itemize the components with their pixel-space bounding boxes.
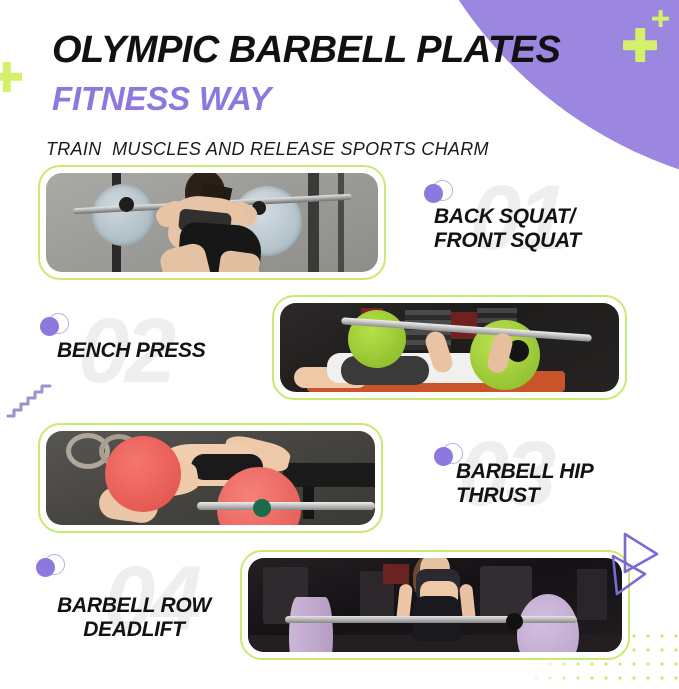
item-title-01: BACK SQUAT/ FRONT SQUAT — [434, 205, 581, 252]
item-title-03: BARBELL HIP THRUST — [456, 460, 594, 507]
plus-icon-small — [652, 10, 669, 27]
page-tagline: TRAIN MUSCLES AND RELEASE SPORTS CHARM — [46, 139, 489, 160]
photo-deadlift — [248, 558, 622, 652]
item-title-04: BARBELL ROW DEADLIFT — [28, 594, 240, 641]
photo-hip-thrust — [46, 431, 375, 525]
photo-back-squat — [46, 173, 378, 272]
bullet-dot-02 — [40, 317, 59, 336]
plus-icon-large — [623, 28, 657, 62]
bullet-dot-03 — [434, 447, 453, 466]
photo-card-bench-press — [272, 295, 627, 400]
photo-card-back-squat — [38, 165, 386, 280]
poster-root: OLYMPIC BARBELL PLATES FITNESS WAY TRAIN… — [0, 0, 679, 689]
item-title-02: BENCH PRESS — [57, 339, 205, 363]
photo-bench-press — [280, 303, 619, 392]
photo-card-deadlift — [240, 550, 630, 660]
squiggle-icon — [6, 380, 62, 425]
bullet-dot-01 — [424, 184, 443, 203]
page-subtitle: FITNESS WAY — [52, 80, 271, 118]
page-title: OLYMPIC BARBELL PLATES — [52, 29, 560, 72]
plus-icon-left — [0, 62, 22, 92]
bullet-dot-04 — [36, 558, 55, 577]
double-triangle-logo-icon — [603, 530, 661, 605]
photo-card-hip-thrust — [38, 423, 383, 533]
